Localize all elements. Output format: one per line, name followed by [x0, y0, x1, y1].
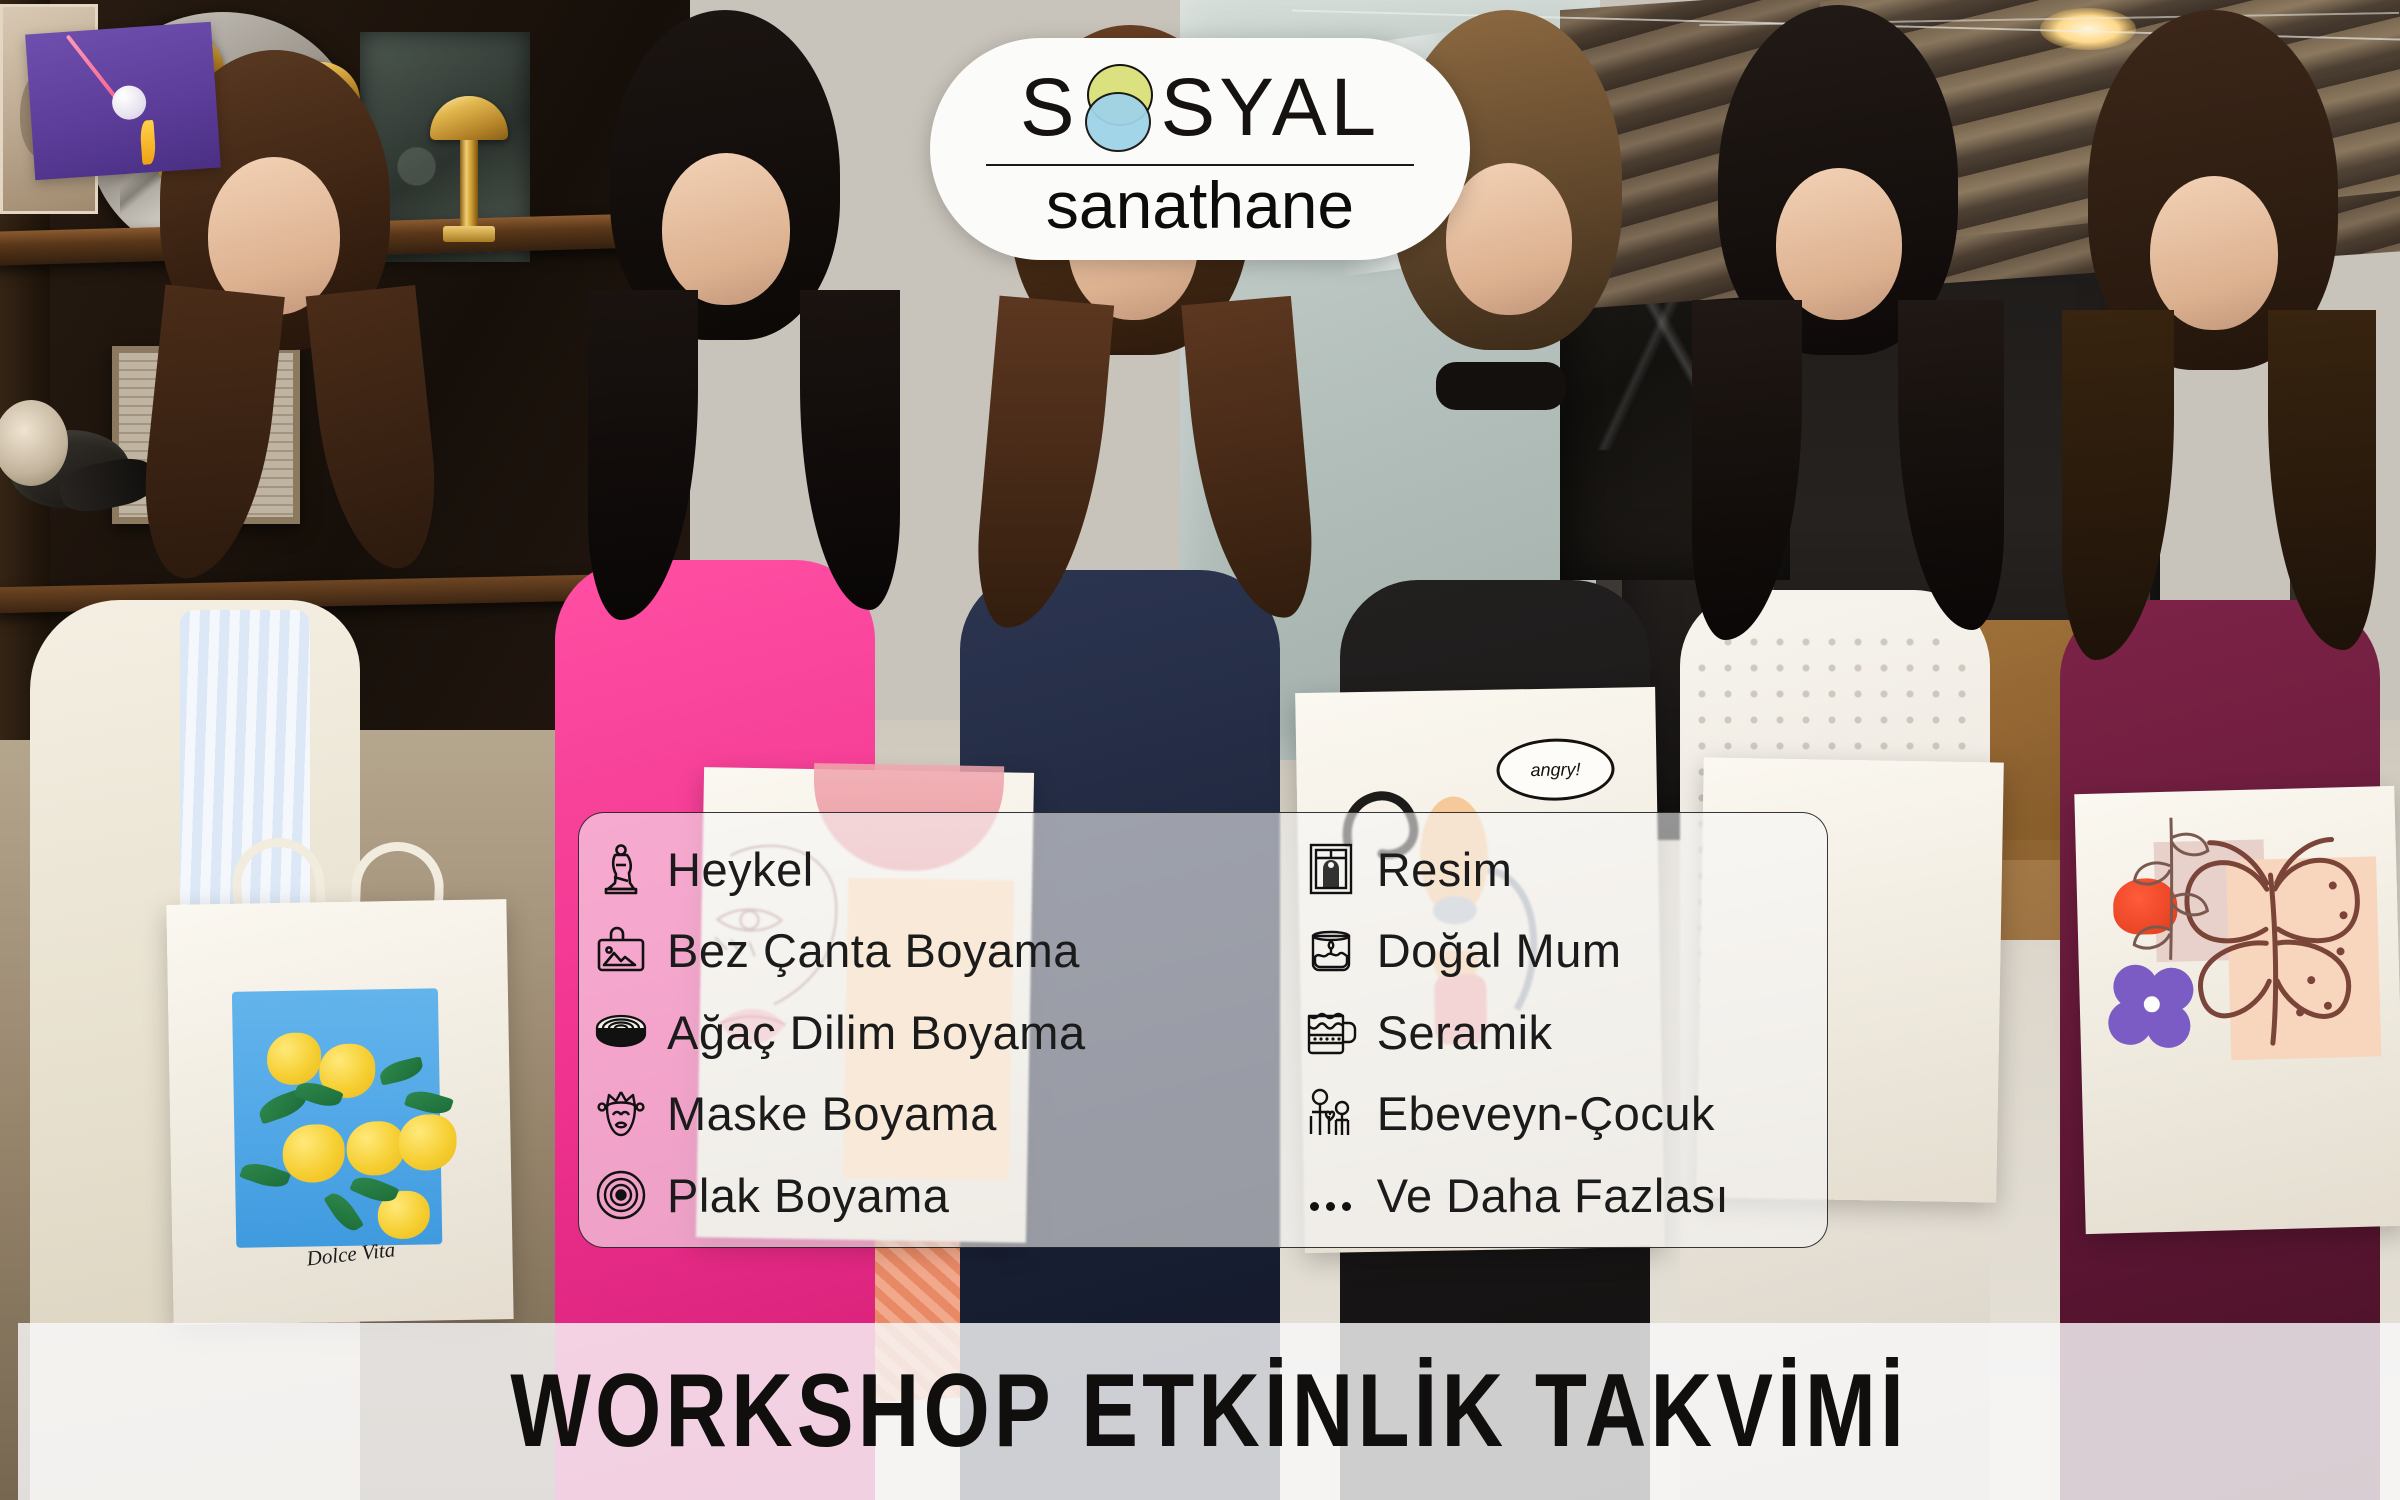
bottom-banner: WORKSHOP ETKİNLİK TAKVİMİ [18, 1323, 2400, 1500]
workshop-label: Doğal Mum [1377, 923, 1622, 978]
purple-canvas-artwork [25, 22, 221, 181]
brand-logo-subtitle: sanathane [1046, 172, 1354, 238]
workshop-label: Resim [1377, 842, 1513, 897]
pearl-moon [111, 84, 147, 120]
person-5-face [1776, 168, 1902, 320]
yellow-flame-shape [139, 120, 156, 165]
workshop-list-card: Heykel Bez Çanta Boyama [578, 812, 1828, 1248]
workshop-item-maske-boyama[interactable]: Maske Boyama [593, 1076, 1303, 1152]
vinyl-record-icon [593, 1167, 649, 1223]
workshop-item-ebeveyn-cocuk[interactable]: Ebeveyn-Çocuk [1303, 1076, 1821, 1152]
tote-bag-lemons: Dolce Vita [166, 899, 513, 1325]
statue-icon [593, 841, 649, 897]
speech-bubble: angry! [1496, 738, 1615, 802]
brand-logo-overlapping-circles-icon [1081, 60, 1159, 156]
workshop-label: Seramik [1377, 1005, 1553, 1060]
leaf-stem-drawing [2119, 806, 2227, 969]
brand-logo-letter-s: S [1020, 67, 1079, 149]
person-6-face [2150, 176, 2278, 330]
lamp-dome [430, 96, 508, 140]
workshop-label: Ve Daha Fazlası [1377, 1168, 1729, 1223]
workshop-item-resim[interactable]: Resim [1303, 831, 1821, 907]
workshop-item-dogal-mum[interactable]: Doğal Mum [1303, 913, 1821, 989]
workshop-item-ve-daha-fazlasi[interactable]: Ve Daha Fazlası [1303, 1157, 1821, 1233]
ellipsis-dot [1310, 1202, 1319, 1211]
brand-logo-divider [986, 164, 1414, 166]
speech-bubble-text: angry! [1499, 741, 1612, 799]
gold-mushroom-lamp [430, 96, 508, 242]
lamp-base [443, 226, 495, 242]
workshop-label: Plak Boyama [667, 1168, 949, 1223]
workshop-item-bez-canta-boyama[interactable]: Bez Çanta Boyama [593, 913, 1303, 989]
parent-child-icon [1303, 1086, 1359, 1142]
workshop-item-plak-boyama[interactable]: Plak Boyama [593, 1157, 1303, 1233]
ellipsis-icon [1303, 1167, 1359, 1223]
workshop-label: Bez Çanta Boyama [667, 923, 1080, 978]
lamp-stem [460, 140, 478, 226]
ellipsis-dot [1342, 1202, 1351, 1211]
person-4-neck-scarf [1436, 362, 1566, 410]
person-4-face [1446, 163, 1572, 315]
workshop-item-seramik[interactable]: Seramik [1303, 994, 1821, 1070]
brand-logo-letters-syal: SYAL [1161, 67, 1381, 149]
workshop-item-agac-dilim-boyama[interactable]: Ağaç Dilim Boyama [593, 994, 1303, 1070]
tote-bag-butterfly [2074, 786, 2400, 1234]
brand-logo-circle-bottom [1085, 92, 1151, 152]
person-2-face [662, 153, 790, 305]
brand-logo: S SYAL sanathane [930, 38, 1470, 260]
wood-slice-icon [593, 1004, 649, 1060]
workshop-label: Ebeveyn-Çocuk [1377, 1086, 1715, 1141]
workshop-label: Maske Boyama [667, 1086, 997, 1141]
lemon [398, 1114, 457, 1171]
workshop-label: Heykel [667, 842, 814, 897]
ceramic-mug-icon [1303, 1004, 1359, 1060]
poster-root: BİZ 100 BİN TAKİPÇİ OLDUK [0, 0, 2400, 1500]
banner-title: WORKSHOP ETKİNLİK TAKVİMİ [510, 1352, 1907, 1471]
candle-glass-icon [1303, 923, 1359, 979]
workshop-item-heykel[interactable]: Heykel [593, 831, 1303, 907]
framed-painting-icon [1303, 841, 1359, 897]
ellipsis-dot [1326, 1202, 1335, 1211]
jester-mask-icon [593, 1086, 649, 1142]
workshop-right-column: Resim Doğal Mum [1303, 831, 1821, 1233]
workshop-label: Ağaç Dilim Boyama [667, 1005, 1086, 1060]
person-6-hair-right [2268, 310, 2376, 650]
brand-logo-top-row: S SYAL [930, 60, 1470, 156]
tote-bag-icon [593, 923, 649, 979]
workshop-left-column: Heykel Bez Çanta Boyama [593, 831, 1303, 1233]
